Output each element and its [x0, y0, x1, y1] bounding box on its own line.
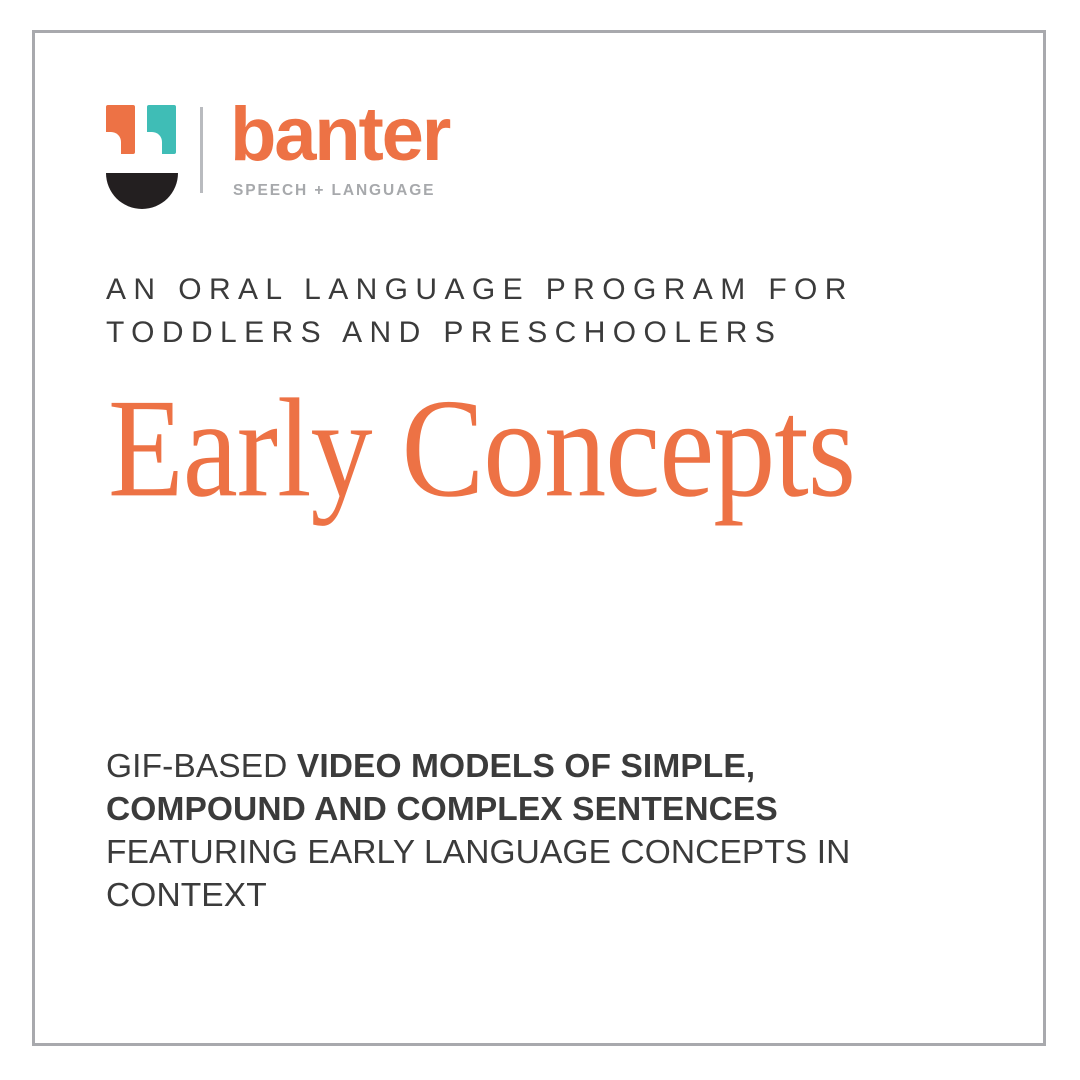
brand-tagline: SPEECH + LANGUAGE — [233, 182, 449, 200]
quote-mark-teal-icon — [147, 105, 176, 154]
quote-mark-orange-icon — [106, 105, 135, 154]
description-tail: FEATURING EARLY LANGUAGE CONCEPTS IN CON… — [106, 834, 850, 914]
banter-logo: banter SPEECH + LANGUAGE — [106, 105, 449, 223]
page-title: Early Concepts — [108, 378, 855, 519]
smile-semicircle-icon — [106, 173, 178, 209]
logo-divider — [200, 107, 203, 193]
program-kicker: AN ORAL LANGUAGE PROGRAM FOR TODDLERS AN… — [106, 269, 916, 354]
program-description: GIF-BASED VIDEO MODELS OF SIMPLE, COMPOU… — [106, 746, 896, 918]
brand-wordmark: banter — [230, 99, 449, 171]
kicker-line-1: AN ORAL LANGUAGE PROGRAM FOR — [106, 269, 916, 312]
banter-logo-mark — [106, 105, 178, 223]
description-lead: GIF-BASED — [106, 748, 297, 785]
poster-content: banter SPEECH + LANGUAGE AN ORAL LANGUAG… — [106, 30, 986, 1046]
banter-wordmark-group: banter SPEECH + LANGUAGE — [230, 99, 449, 200]
poster-canvas: banter SPEECH + LANGUAGE AN ORAL LANGUAG… — [0, 0, 1080, 1080]
kicker-line-2: TODDLERS AND PRESCHOOLERS — [106, 312, 916, 355]
